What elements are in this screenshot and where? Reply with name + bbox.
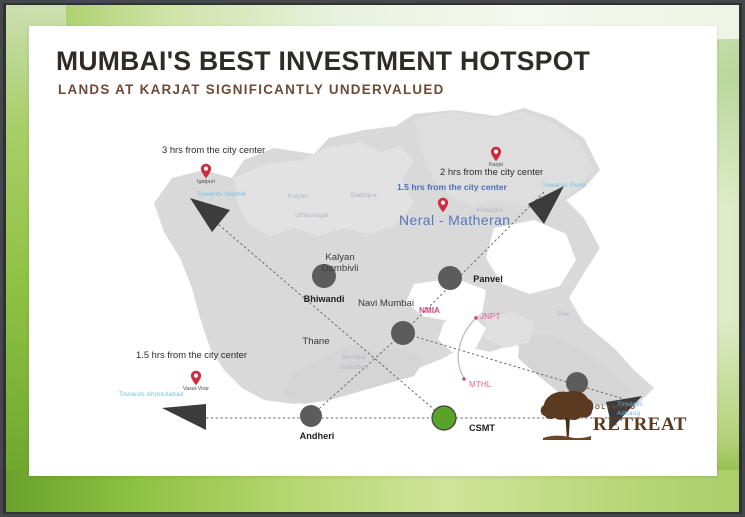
mat-bottom-band <box>6 470 739 512</box>
mthl-dot <box>462 377 466 381</box>
tree-icon <box>537 386 597 442</box>
brand-logo: OLYMPEO RETREAT <box>537 386 677 448</box>
map-node-andheri[interactable] <box>300 405 322 427</box>
map-landmass <box>154 108 654 408</box>
map-node-bhiwandi[interactable] <box>312 264 336 288</box>
map-node-panvel[interactable] <box>438 266 462 290</box>
map-node-csmt[interactable] <box>432 406 456 430</box>
jnpt-dot <box>474 316 478 320</box>
logo-brand-main: RETREAT <box>593 414 687 436</box>
page-title: MUMBAI'S BEST INVESTMENT HOTSPOT <box>56 46 590 77</box>
slide-card: MUMBAI'S BEST INVESTMENT HOTSPOT LANDS A… <box>29 26 717 476</box>
page-subtitle: LANDS AT KARJAT SIGNIFICANTLY UNDERVALUE… <box>58 82 445 97</box>
logo-brand-top: OLYMPEO <box>595 404 637 411</box>
map-node-nmia[interactable] <box>391 321 415 345</box>
slide-frame: MUMBAI'S BEST INVESTMENT HOTSPOT LANDS A… <box>0 0 745 517</box>
